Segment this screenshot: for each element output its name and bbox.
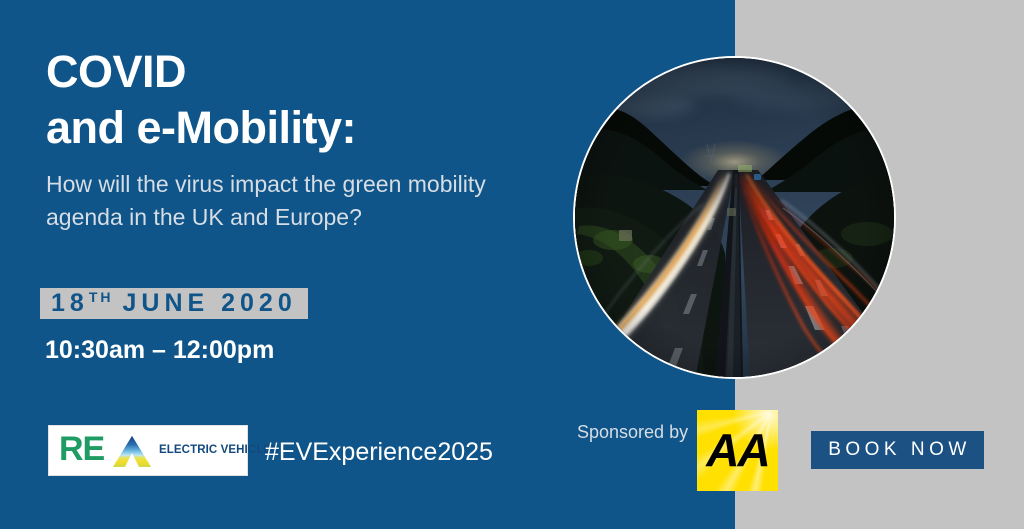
subtitle-line-1: How will the virus impact the green mobi… [46,168,516,201]
rea-logo: RE [48,425,248,476]
mountain-triangle-icon [113,436,151,467]
event-date-day: 18 [51,291,89,316]
event-time: 10:30am – 12:00pm [45,336,274,365]
rea-logo-inner: RE [59,433,241,470]
page-subtitle: How will the virus impact the green mobi… [46,168,516,234]
aa-logo-text: AA [697,424,778,476]
book-now-label: BOOK NOW [824,439,971,461]
event-date-badge: 18THJUNE 2020 [40,288,308,319]
headline-line-2: and e-Mobility: [46,100,606,156]
sponsored-by-label: Sponsored by [577,422,688,443]
book-now-button[interactable]: BOOK NOW [811,431,984,469]
rea-tagline: ELECTRIC VEHICLES [159,444,279,456]
page-title: COVID and e-Mobility: [46,44,606,156]
motorway-night-light-trails-photo [575,58,894,377]
rea-wordmark-letters: RE [59,432,104,466]
aa-sponsor-logo: AA [697,410,778,491]
subtitle-line-2: agenda in the UK and Europe? [46,201,516,234]
hero-photo-circle [573,56,896,379]
event-hashtag: #EVExperience2025 [265,438,493,467]
event-date-ordinal: TH [89,289,114,305]
headline-line-1: COVID [46,44,606,100]
event-date-month-year: JUNE 2020 [113,291,296,316]
event-promo-banner: COVID and e-Mobility: How will the virus… [0,0,1024,529]
